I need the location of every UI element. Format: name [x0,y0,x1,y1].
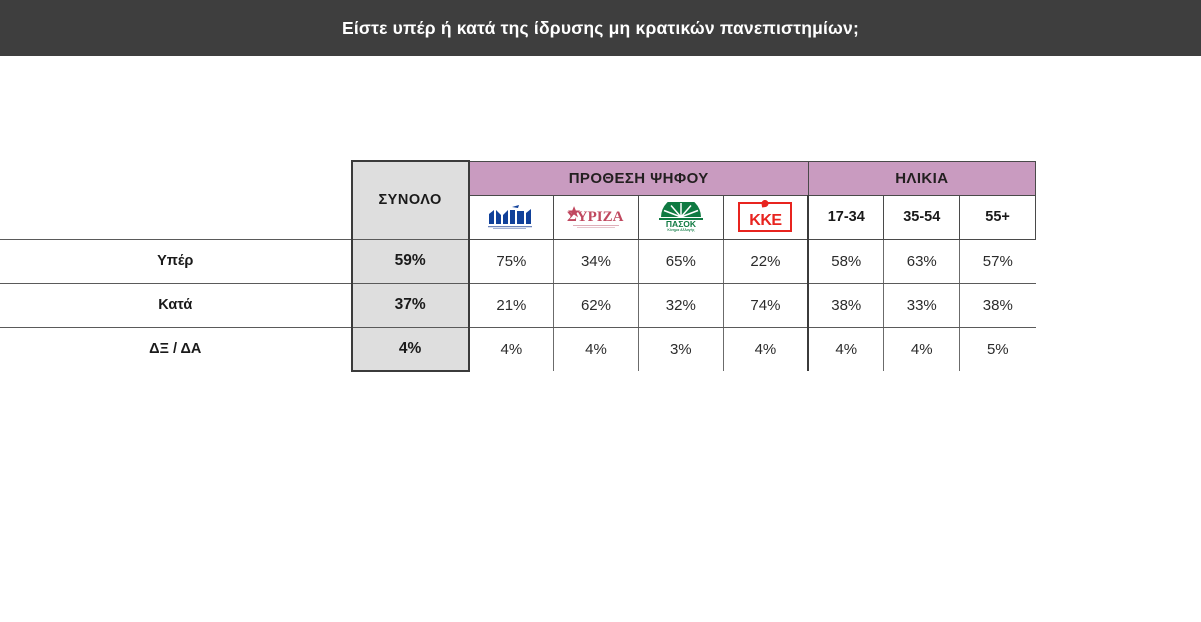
kke-logo-text: ΚΚΕ [749,213,781,230]
column-header-syriza: ΣΥΡΙΖΑ [554,195,639,239]
column-header-nd [469,195,554,239]
total-column-header: ΣΥΝΟΛΟ [352,161,469,239]
poll-results-table: ΣΥΝΟΛΟ ΠΡΟΘΕΣΗ ΨΗΦΟΥ ΗΛΙΚΙΑ [0,160,1036,372]
column-header-age-35-54: 35-54 [884,195,960,239]
cell-dk-na-age-35-54: 4% [884,327,960,371]
cell-yper-total: 59% [352,239,469,283]
cell-yper-age-35-54: 63% [884,239,960,283]
cell-yper-kke: 22% [723,239,808,283]
cell-kata-age-17-34: 38% [808,283,884,327]
pasok-logo: ΠΑΣΟΚ Κίνημα Αλλαγής [651,202,711,232]
row-label-yper: Υπέρ [0,239,352,283]
cell-yper-pasok: 65% [638,239,723,283]
cell-yper-age-17-34: 58% [808,239,884,283]
cell-yper-syriza: 34% [554,239,639,283]
label-column-header [0,195,352,239]
row-label-kata: Κατά [0,283,352,327]
cell-kata-age-35-54: 33% [884,283,960,327]
cell-kata-age-55plus: 38% [960,283,1036,327]
column-header-age-55plus: 55+ [960,195,1036,239]
cell-dk-na-pasok: 3% [638,327,723,371]
column-header-age-17-34: 17-34 [808,195,884,239]
cell-kata-total: 37% [352,283,469,327]
column-header-pasok: ΠΑΣΟΚ Κίνημα Αλλαγής [638,195,723,239]
svg-text:Κίνημα Αλλαγής: Κίνημα Αλλαγής [667,228,694,232]
column-header-kke: ΚΚΕ [723,195,808,239]
nd-logo [484,204,538,230]
title-bar: Είστε υπέρ ή κατά της ίδρυσης μη κρατικώ… [0,0,1201,56]
poll-table-container: ΣΥΝΟΛΟ ΠΡΟΘΕΣΗ ΨΗΦΟΥ ΗΛΙΚΙΑ [0,160,1036,366]
syriza-logo: ΣΥΡΙΖΑ [564,203,628,231]
cell-dk-na-nd: 4% [469,327,554,371]
cell-kata-nd: 21% [469,283,554,327]
kke-logo: ΚΚΕ [738,202,792,232]
page-title: Είστε υπέρ ή κατά της ίδρυσης μη κρατικώ… [342,18,859,39]
cell-kata-syriza: 62% [554,283,639,327]
column-header-row: ΣΥΡΙΖΑ ΠΑΣΟ [0,195,1036,239]
cell-kata-kke: 74% [723,283,808,327]
cell-dk-na-age-17-34: 4% [808,327,884,371]
group-header-vote-intention: ΠΡΟΘΕΣΗ ΨΗΦΟΥ [469,161,808,195]
kke-flag-icon [761,199,769,207]
table-row: ΔΞ / ΔΑ 4% 4% 4% 3% 4% 4% 4% 5% [0,327,1036,371]
cell-yper-age-55plus: 57% [960,239,1036,283]
cell-yper-nd: 75% [469,239,554,283]
table-row: Κατά 37% 21% 62% 32% 74% 38% 33% 38% [0,283,1036,327]
svg-text:ΠΑΣΟΚ: ΠΑΣΟΚ [666,219,697,229]
cell-dk-na-kke: 4% [723,327,808,371]
corner-blank-cell [0,161,352,195]
cell-dk-na-syriza: 4% [554,327,639,371]
cell-kata-pasok: 32% [638,283,723,327]
cell-dk-na-total: 4% [352,327,469,371]
row-label-dk-na: ΔΞ / ΔΑ [0,327,352,371]
cell-dk-na-age-55plus: 5% [960,327,1036,371]
table-row: Υπέρ 59% 75% 34% 65% 22% 58% 63% 57% [0,239,1036,283]
group-header-age: ΗΛΙΚΙΑ [808,161,1035,195]
group-header-row: ΣΥΝΟΛΟ ΠΡΟΘΕΣΗ ΨΗΦΟΥ ΗΛΙΚΙΑ [0,161,1036,195]
